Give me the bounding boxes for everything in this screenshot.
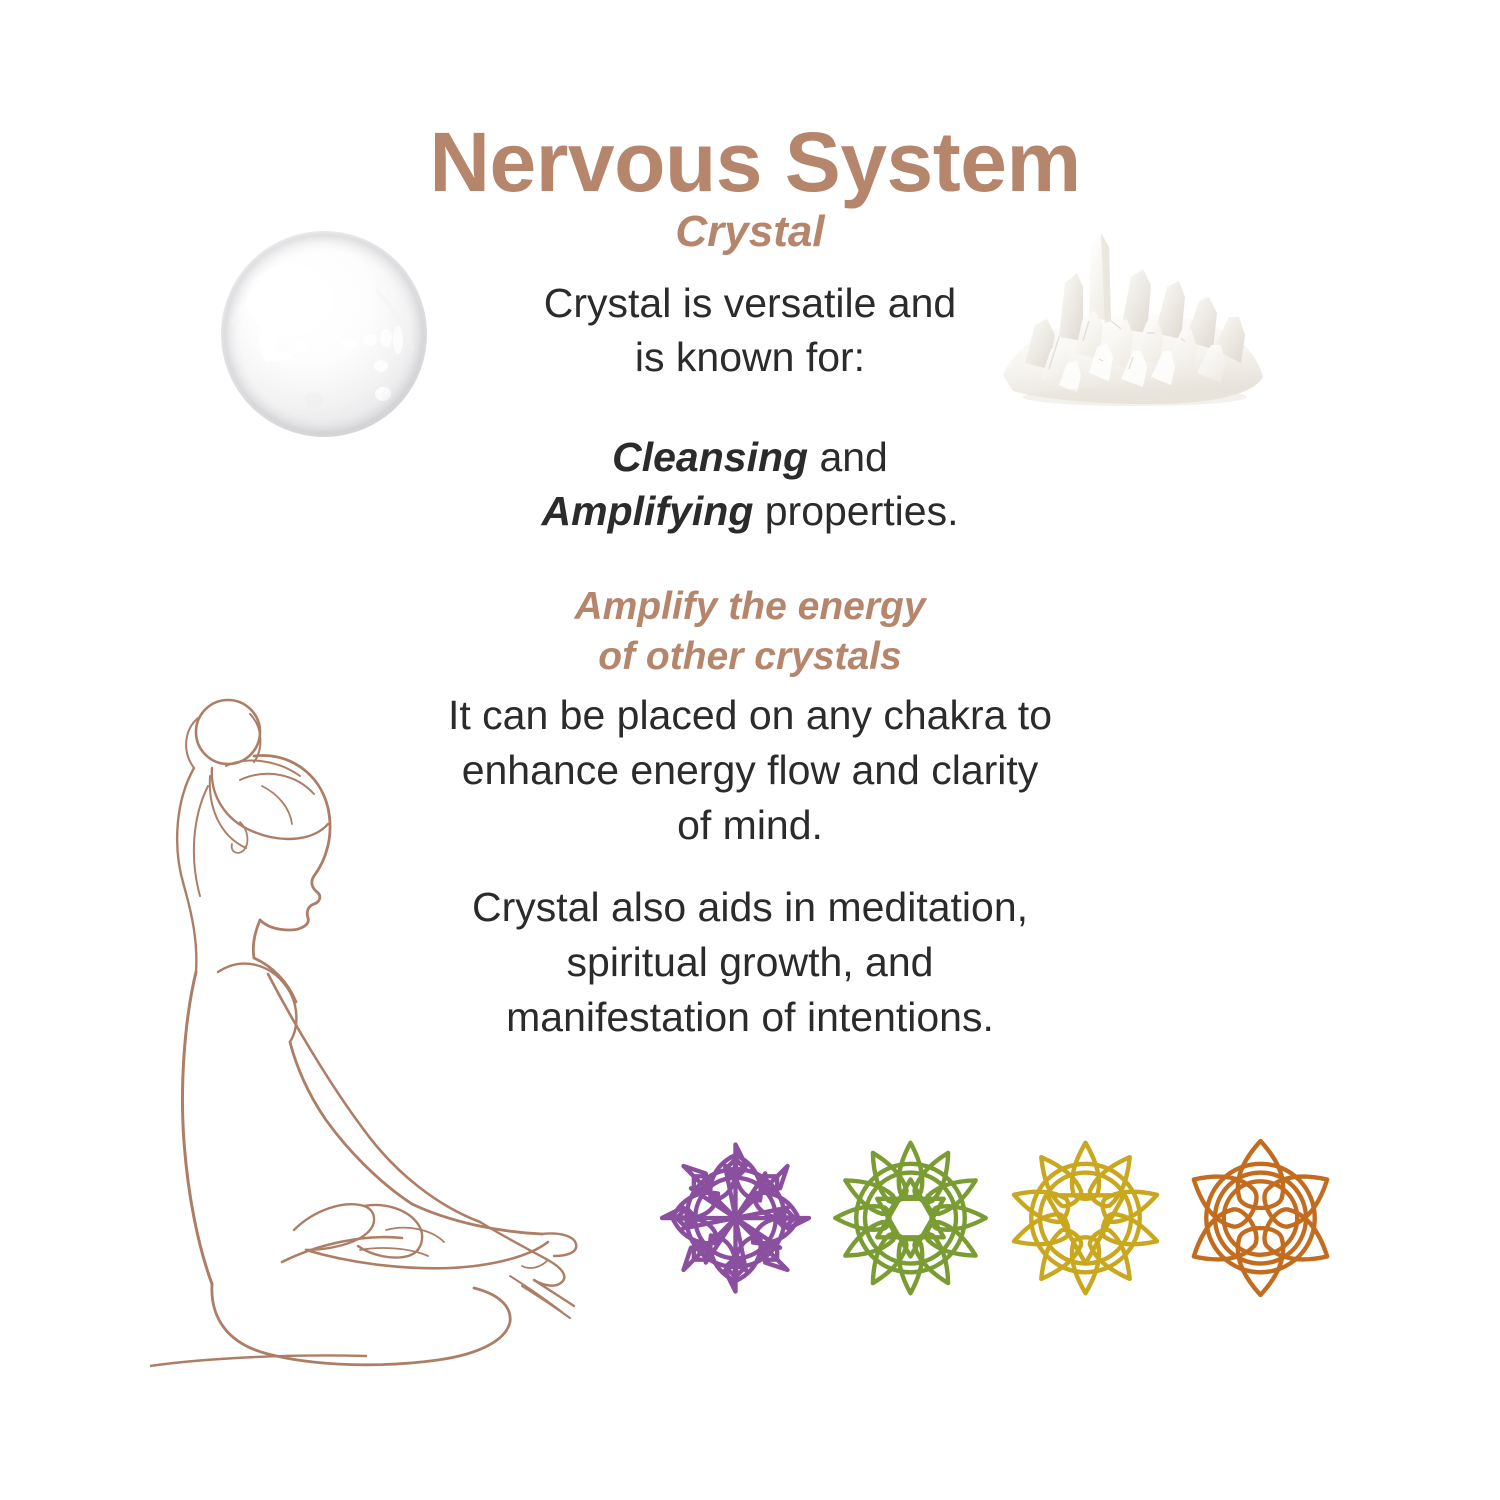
chakra-solar-plexus-icon bbox=[998, 1123, 1173, 1313]
chakra-throat-icon bbox=[648, 1123, 823, 1313]
amplify-heading-line-1: Amplify the energy bbox=[380, 582, 1120, 632]
properties-line-2: Amplifying properties. bbox=[420, 484, 1080, 538]
properties-line-1: Cleansing and bbox=[420, 430, 1080, 484]
meditation-figure-illustration bbox=[150, 690, 620, 1380]
crystal-sphere-image bbox=[218, 228, 430, 440]
property-suffix: properties. bbox=[753, 488, 958, 534]
page-title: Nervous System bbox=[0, 120, 1500, 204]
intro-line-1: Crystal is versatile and bbox=[420, 276, 1080, 330]
property-cleansing: Cleansing bbox=[612, 434, 808, 480]
chakra-symbol-row bbox=[648, 1118, 1338, 1318]
amplify-heading-line-2: of other crystals bbox=[380, 632, 1120, 682]
amplify-heading: Amplify the energy of other crystals bbox=[380, 582, 1120, 682]
chakra-sacral-icon bbox=[1173, 1123, 1348, 1313]
intro-line-2: is known for: bbox=[420, 330, 1080, 384]
intro-copy: Crystal is versatile and is known for: C… bbox=[420, 276, 1080, 538]
chakra-heart-icon bbox=[823, 1123, 998, 1313]
property-conjunction: and bbox=[808, 434, 888, 480]
property-amplifying: Amplifying bbox=[542, 488, 754, 534]
poster-canvas: Nervous System Crystal bbox=[0, 0, 1500, 1500]
